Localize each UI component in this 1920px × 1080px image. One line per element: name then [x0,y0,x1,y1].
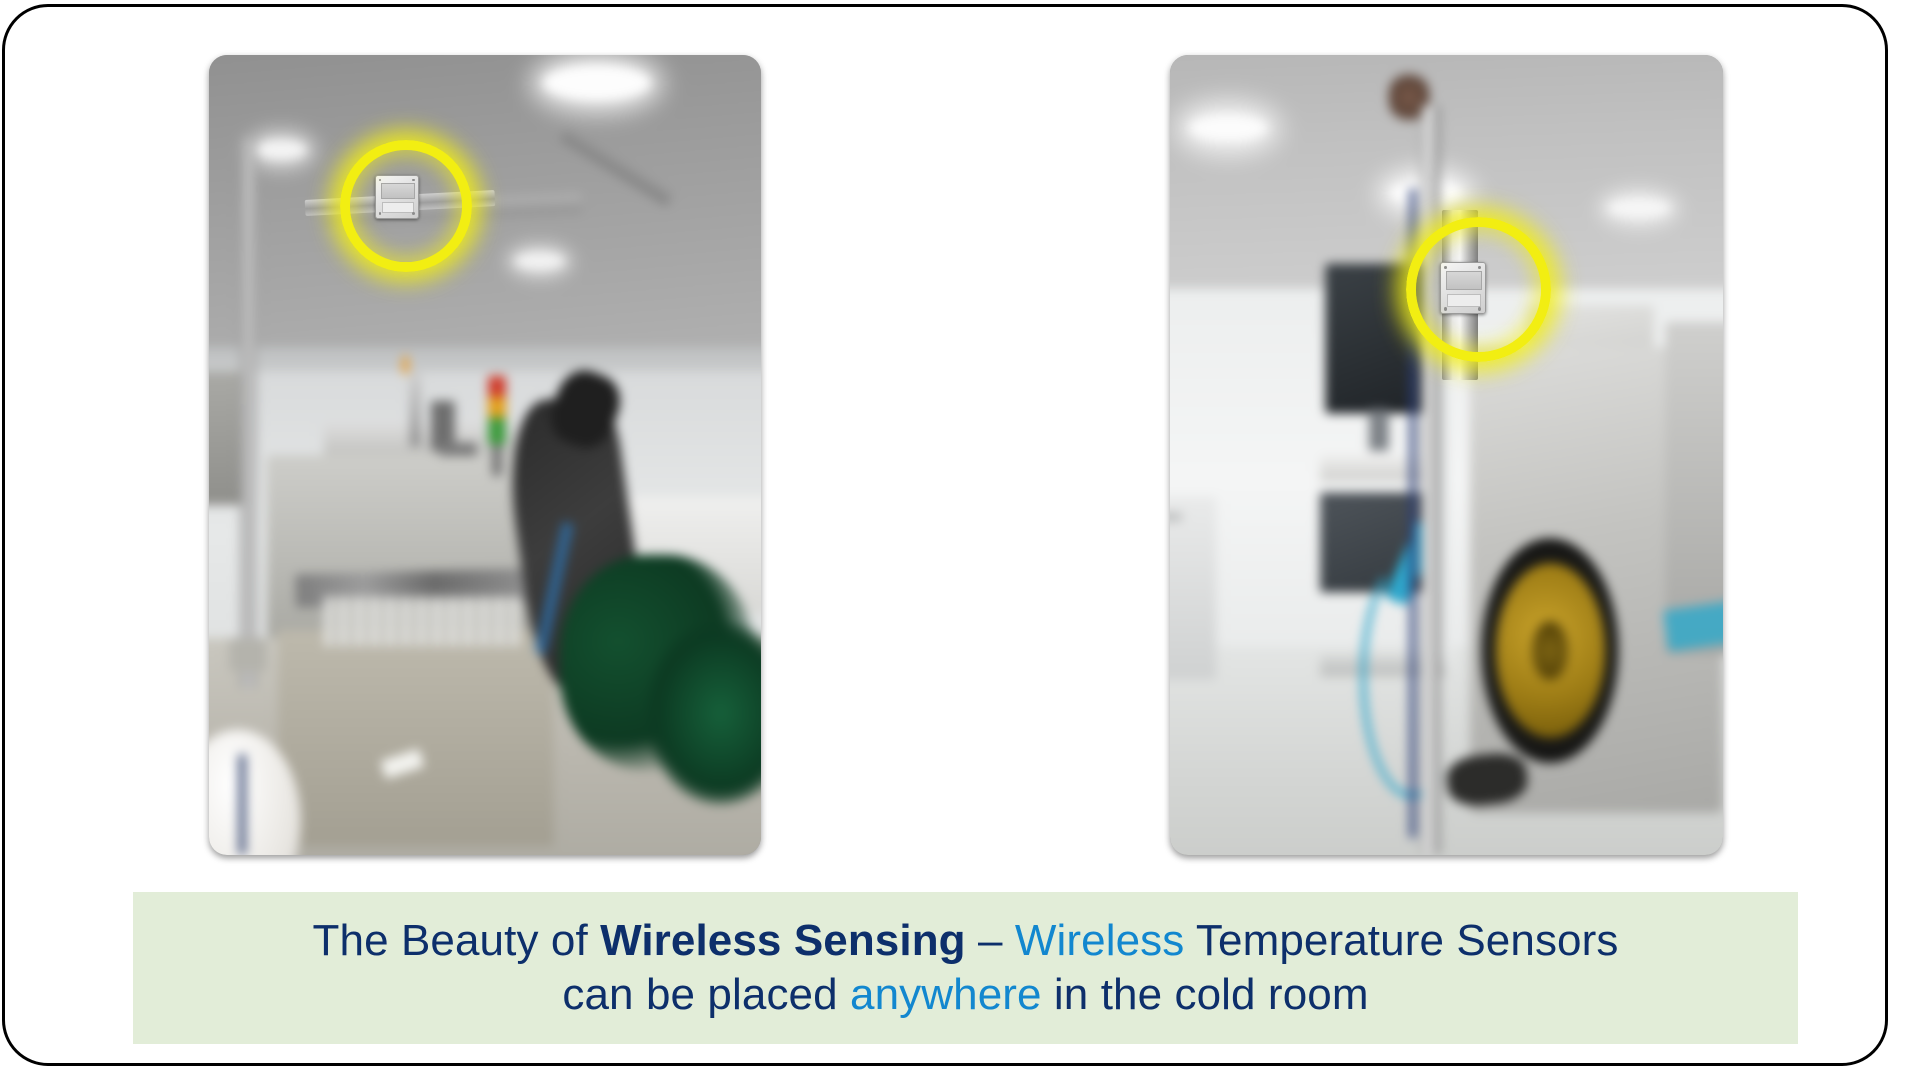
wall-shelf [1320,455,1435,482]
status-light-red [488,376,506,398]
caption-text-wireless: Wireless [1015,916,1184,965]
caption-dash: – [966,916,1015,965]
wireless-temperature-sensor-icon [375,175,419,219]
caption-text-in-the-cold-room: in the cold room [1042,970,1369,1019]
slide-card: The Beauty of Wireless Sensing – Wireles… [2,4,1888,1066]
caption-banner: The Beauty of Wireless Sensing – Wireles… [133,892,1798,1044]
sensor-display [1446,271,1481,290]
sensor-screw [379,179,382,182]
machine-probe [410,372,420,447]
vial-row [324,596,519,646]
caption-text-wireless-sensing: Wireless Sensing [600,916,966,965]
caption-text-temperature-sensors: Temperature Sensors [1184,916,1618,965]
cabinet-seam [1170,513,1182,520]
status-light-green [488,418,506,445]
photo-right-scene [1170,55,1723,855]
sensor-screw [1478,307,1481,311]
sensor-screw [1478,266,1481,270]
photo-left-scene [209,55,761,855]
ceiling-light-icon [542,64,651,101]
left-cabinet [1170,497,1216,680]
caption-text-the-beauty-of: The Beauty of [313,916,601,965]
ceiling-light-icon [1188,114,1269,142]
sensor-screw [1444,266,1447,270]
sensor-display [381,183,415,199]
ceiling-light-icon [1608,197,1671,219]
sensor-screw [412,179,415,182]
monitor-stand [1369,409,1389,451]
sensor-screw [412,212,415,215]
indicator-lamp [402,355,409,375]
ceiling-light-icon [255,139,307,161]
support-pole [1421,106,1441,855]
wireless-temperature-sensor-icon [1440,262,1486,314]
ceiling [209,55,761,388]
caption-text-anywhere: anywhere [850,970,1042,1019]
support-pole [241,139,256,688]
bin-strap [238,755,246,855]
machine-arm [439,443,476,456]
caption-line-2: can be placed anywhere in the cold room [562,968,1368,1022]
caption-line-1: The Beauty of Wireless Sensing – Wireles… [313,914,1619,968]
sensor-label [382,202,414,213]
filling-machine-base [278,630,554,846]
caption-text-can-be-placed: can be placed [562,970,850,1019]
sensor-label [1447,294,1481,307]
equipment-wheel-hub [1533,621,1567,679]
sensor-screw [1444,307,1447,311]
status-light-amber [488,397,506,419]
support-pole-foot [230,638,267,671]
photo-right-cold-room[interactable] [1170,55,1723,855]
wall-monitor [1326,264,1435,414]
photo-left-cold-room[interactable] [209,55,761,855]
status-tower-stem [492,443,501,476]
pole-blue-stripe [1410,189,1416,838]
